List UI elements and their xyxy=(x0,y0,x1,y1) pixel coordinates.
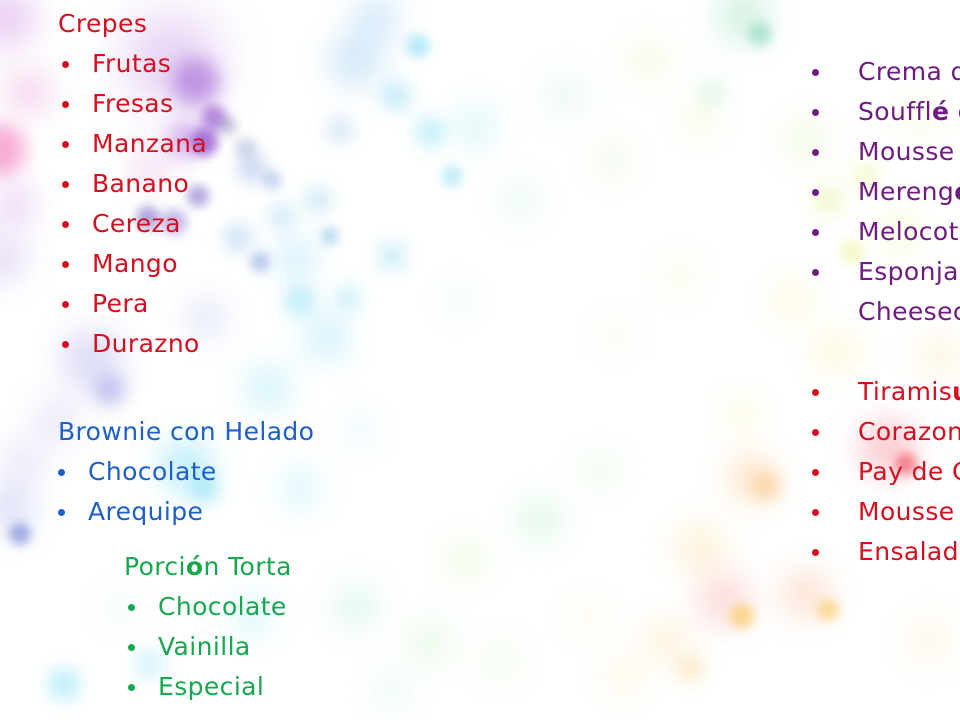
bullet-icon xyxy=(58,469,65,476)
list-item-label: Manzana xyxy=(92,124,207,164)
list-item[interactable]: Especial xyxy=(128,667,292,707)
list-item-label: Vainilla xyxy=(158,627,251,667)
bokeh-blob xyxy=(48,668,80,700)
bokeh-blob xyxy=(698,78,726,106)
bokeh-blob xyxy=(346,416,374,444)
list-item[interactable]: Durazno xyxy=(62,324,207,364)
bullet-icon xyxy=(812,229,819,236)
list-item[interactable]: Corazoncitos Dulces xyxy=(812,412,960,452)
bokeh-blob xyxy=(448,542,484,578)
list-item-label: Pay de Chocolate Sedoso xyxy=(858,452,960,492)
bullet-icon xyxy=(62,301,69,308)
bullet-icon xyxy=(62,181,69,188)
bokeh-blob xyxy=(278,240,314,276)
bullet-icon xyxy=(812,549,819,556)
crepes-list: Frutas Fresas Manzana Banano Cereza Mang… xyxy=(62,44,207,364)
bokeh-blob xyxy=(817,599,839,621)
bokeh-blob xyxy=(262,170,282,190)
bullet-icon xyxy=(58,509,65,516)
bokeh-blob xyxy=(676,654,704,682)
bokeh-blob xyxy=(4,442,44,482)
list-item-label: Tiramisú xyxy=(858,372,960,412)
bokeh-blob xyxy=(354,0,398,40)
bokeh-blob xyxy=(774,282,810,318)
bokeh-blob xyxy=(628,40,668,80)
bokeh-blob xyxy=(728,400,756,428)
porcion-torta-list: Chocolate Vainilla Especial xyxy=(128,587,292,707)
bokeh-blob xyxy=(441,165,463,187)
mousses-group: Crema de Mango Soufflé de moca Mousse de… xyxy=(812,52,960,332)
bokeh-blob xyxy=(410,622,450,662)
bokeh-blob xyxy=(378,242,406,270)
bokeh-blob xyxy=(676,524,724,572)
bullet-icon xyxy=(62,261,69,268)
bokeh-blob xyxy=(482,642,518,678)
list-item[interactable]: Vainilla xyxy=(128,627,292,667)
bullet-icon xyxy=(812,429,819,436)
list-item-label: Durazno xyxy=(92,324,200,364)
bullet-icon xyxy=(128,604,135,611)
bokeh-blob xyxy=(0,484,34,532)
bokeh-blob xyxy=(246,366,290,410)
mousses-list: Crema de Mango Soufflé de moca Mousse de… xyxy=(812,52,960,332)
bullet-icon xyxy=(812,269,819,276)
bullet-icon xyxy=(812,469,819,476)
bokeh-blob xyxy=(456,106,496,146)
list-item[interactable]: Crema de Mango xyxy=(812,52,960,92)
bokeh-blob xyxy=(0,234,26,282)
list-item[interactable]: Melocotones con fresas xyxy=(812,212,960,252)
list-item[interactable]: Pay de Chocolate Sedoso xyxy=(812,452,960,492)
bullet-icon xyxy=(812,109,819,116)
dulces-list: Tiramisú Corazoncitos Dulces Pay de Choc… xyxy=(812,372,960,572)
list-item-label: Ensalada de Frutas xyxy=(858,532,960,572)
bokeh-blob xyxy=(816,332,856,372)
list-item-label: Mango xyxy=(92,244,178,284)
bullet-icon xyxy=(62,61,69,68)
list-item[interactable]: Fresas xyxy=(62,84,207,124)
bokeh-blob xyxy=(95,375,125,405)
list-item[interactable]: Mousse de Café xyxy=(812,492,960,532)
bokeh-blob xyxy=(382,82,410,110)
bokeh-blob xyxy=(754,474,778,498)
bokeh-blob xyxy=(415,117,445,147)
bokeh-blob xyxy=(0,185,34,225)
bokeh-blob xyxy=(664,260,696,292)
list-item[interactable]: Mousse de Chocolate xyxy=(812,132,960,172)
bokeh-blob xyxy=(908,618,952,662)
bokeh-blob xyxy=(602,322,630,350)
bokeh-blob xyxy=(406,34,430,58)
bokeh-blob xyxy=(606,658,642,694)
list-item-label: Merengón de guanábana xyxy=(858,172,960,212)
list-item[interactable]: Cheesecake de Moca xyxy=(812,292,960,332)
bokeh-blob xyxy=(698,574,750,626)
list-item[interactable]: Cereza xyxy=(62,204,207,244)
list-item-label: Pera xyxy=(92,284,149,324)
list-item-label: Banano xyxy=(92,164,189,204)
list-item[interactable]: Esponjado de Mora xyxy=(812,252,960,292)
list-item-label: Mousse de Chocolate xyxy=(858,132,960,172)
brownie-group: Brownie con Helado Chocolate Arequipe xyxy=(58,412,314,532)
bokeh-blob xyxy=(730,604,754,628)
list-item-label: Cheesecake de Moca xyxy=(858,292,960,332)
bullet-icon xyxy=(62,221,69,228)
list-item-label: Fresas xyxy=(92,84,173,124)
bokeh-blob xyxy=(306,188,330,212)
bokeh-blob xyxy=(6,70,50,114)
list-item[interactable]: Ensalada de Frutas xyxy=(812,532,960,572)
brownie-heading: Brownie con Helado xyxy=(58,412,314,452)
list-item-label: Especial xyxy=(158,667,264,707)
list-item[interactable]: Manzana xyxy=(62,124,207,164)
bullet-icon xyxy=(62,141,69,148)
slide-canvas: Crepes Frutas Fresas Manzana Banano Cere… xyxy=(0,0,960,720)
bokeh-blob xyxy=(376,674,408,706)
bokeh-blob xyxy=(518,498,562,542)
bokeh-blob xyxy=(327,117,353,143)
bokeh-blob xyxy=(219,117,237,135)
list-item-label: Cereza xyxy=(92,204,181,244)
list-item-label: Soufflé de moca xyxy=(858,92,960,132)
bokeh-blob xyxy=(730,456,774,500)
list-item[interactable]: Frutas xyxy=(62,44,207,84)
bokeh-blob xyxy=(544,74,588,118)
bokeh-blob xyxy=(335,285,361,311)
bullet-icon xyxy=(128,684,135,691)
bullet-icon xyxy=(812,149,819,156)
bokeh-blob xyxy=(321,227,339,245)
brownie-list: Chocolate Arequipe xyxy=(58,452,314,532)
bokeh-blob xyxy=(306,318,346,358)
bokeh-blob xyxy=(330,34,382,86)
crepes-group: Crepes Frutas Fresas Manzana Banano Cere… xyxy=(58,4,207,364)
list-item[interactable]: Mango xyxy=(62,244,207,284)
porcion-torta-group: Porción Torta Chocolate Vainilla Especia… xyxy=(124,547,292,707)
bokeh-blob xyxy=(502,182,538,218)
list-item[interactable]: Tiramisú xyxy=(812,372,960,412)
list-item-label: Chocolate xyxy=(158,587,287,627)
list-item-label: Arequipe xyxy=(88,492,203,532)
list-item-label: Chocolate xyxy=(88,452,217,492)
bokeh-blob xyxy=(9,523,31,545)
bokeh-blob xyxy=(594,142,630,178)
bokeh-blob xyxy=(239,155,265,181)
bullet-icon xyxy=(812,389,819,396)
list-item[interactable]: Pera xyxy=(62,284,207,324)
bokeh-blob xyxy=(718,0,770,42)
bokeh-blob xyxy=(270,204,294,228)
list-item-label: Crema de Mango xyxy=(858,52,960,92)
list-item-label: Frutas xyxy=(92,44,171,84)
bullet-icon xyxy=(62,101,69,108)
dulces-group: Tiramisú Corazoncitos Dulces Pay de Choc… xyxy=(812,372,960,572)
bokeh-blob xyxy=(224,224,252,252)
bullet-icon xyxy=(812,189,819,196)
bokeh-blob xyxy=(584,454,616,486)
bokeh-blob xyxy=(446,288,470,312)
bokeh-blob xyxy=(250,252,270,272)
bokeh-blob xyxy=(235,137,257,159)
list-item-label: Corazoncitos Dulces xyxy=(858,412,960,452)
bokeh-blob xyxy=(334,584,378,628)
list-item-label: Mousse de Café xyxy=(858,492,960,532)
porcion-torta-heading: Porción Torta xyxy=(124,547,292,587)
bokeh-blob xyxy=(0,0,36,48)
bullet-icon xyxy=(812,69,819,76)
bokeh-blob xyxy=(784,572,828,616)
list-item-label: Esponjado de Mora xyxy=(858,252,960,292)
list-item[interactable]: Merengón de guanábana xyxy=(812,172,960,212)
bokeh-blob xyxy=(284,284,316,316)
bokeh-blob xyxy=(572,602,604,634)
bokeh-blob xyxy=(684,102,716,134)
list-item[interactable]: Chocolate xyxy=(58,452,314,492)
bokeh-blob xyxy=(648,622,684,658)
bokeh-blob xyxy=(0,124,26,176)
list-item-label: Melocotones con fresas xyxy=(858,212,960,252)
list-item[interactable]: Soufflé de moca xyxy=(812,92,960,132)
bullet-icon xyxy=(62,341,69,348)
bullet-icon xyxy=(812,509,819,516)
list-item[interactable]: Banano xyxy=(62,164,207,204)
list-item[interactable]: Arequipe xyxy=(58,492,314,532)
list-item[interactable]: Chocolate xyxy=(128,587,292,627)
crepes-heading: Crepes xyxy=(58,4,207,44)
bullet-icon xyxy=(128,644,135,651)
bokeh-blob xyxy=(748,22,772,46)
bokeh-blob xyxy=(920,336,960,376)
